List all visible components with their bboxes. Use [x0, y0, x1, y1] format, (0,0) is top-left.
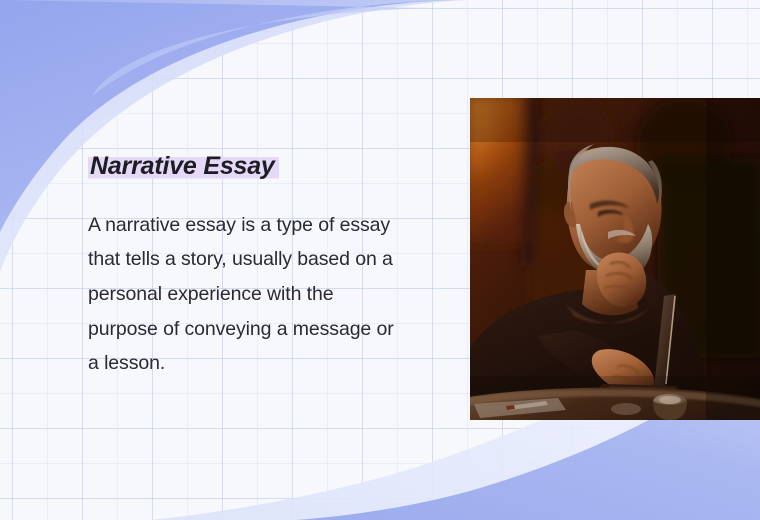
body-paragraph: A narrative essay is a type of essay tha…: [88, 208, 408, 382]
title-wrapper: Narrative Essay: [88, 148, 418, 186]
photo-man-at-laptop: [470, 98, 760, 420]
page-title: Narrative Essay: [88, 152, 279, 180]
slide-canvas: Narrative Essay A narrative essay is a t…: [0, 0, 760, 520]
text-column: Narrative Essay A narrative essay is a t…: [88, 148, 418, 381]
